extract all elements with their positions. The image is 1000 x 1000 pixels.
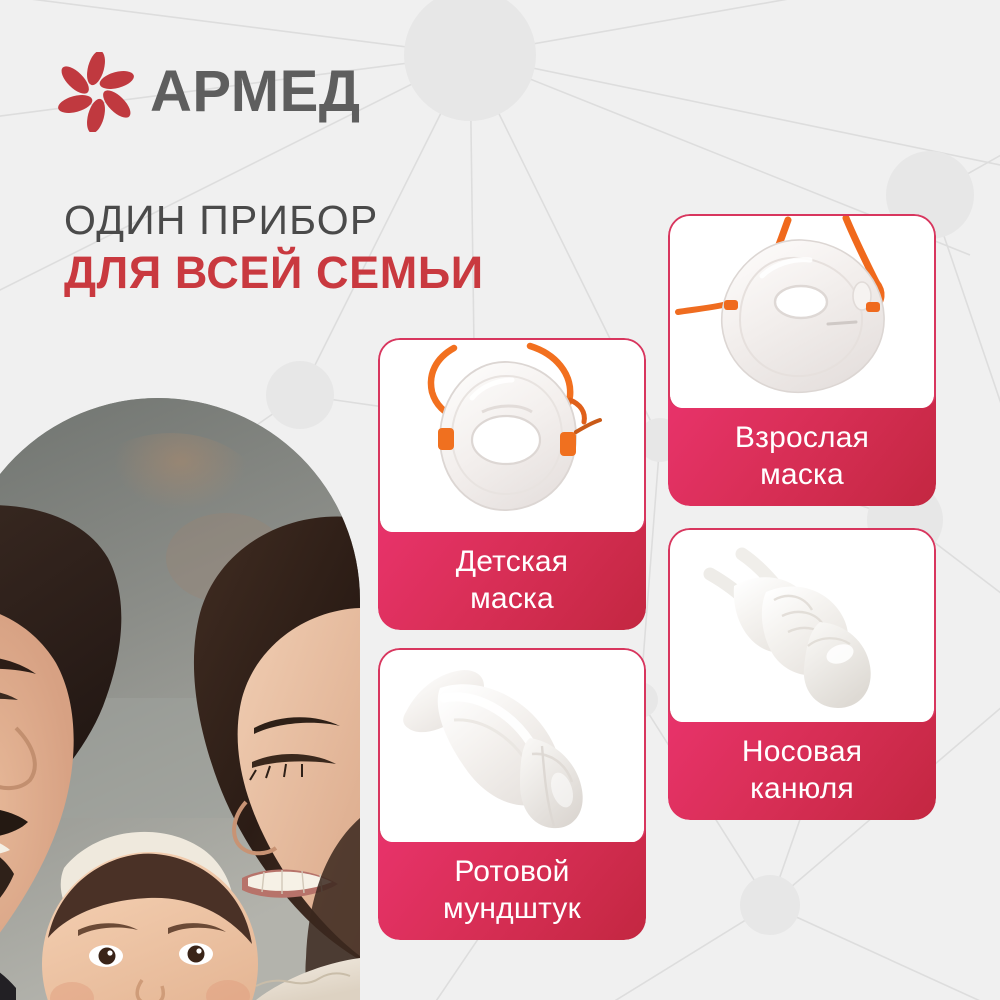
- adult-mask-label-line1: Взрослая: [735, 420, 869, 457]
- nasal-cannula-label-line1: Носовая: [742, 734, 862, 771]
- brand-logo[interactable]: АРМЕД: [56, 52, 361, 132]
- adult-mask-image: [668, 214, 936, 408]
- promo-poster: Взрослая маска: [0, 0, 1000, 1000]
- child-mask-image: [378, 338, 646, 532]
- mouthpiece-label-line1: Ротовой: [454, 854, 569, 891]
- mouthpiece-label: Ротовой мундштук: [378, 828, 646, 940]
- product-card-adult-mask[interactable]: Взрослая маска: [668, 214, 936, 506]
- product-card-nasal-cannula[interactable]: Носовая канюля: [668, 528, 936, 820]
- child-mask-label-line1: Детская: [456, 544, 569, 581]
- nasal-cannula-image: [668, 528, 936, 722]
- nasal-cannula-label: Носовая канюля: [668, 708, 936, 820]
- child-mask-label: Детская маска: [378, 518, 646, 630]
- mouthpiece-label-line2: мундштук: [443, 891, 581, 928]
- headline: ОДИН ПРИБОР ДЛЯ ВСЕЙ СЕМЬИ: [64, 196, 484, 299]
- adult-mask-label-line2: маска: [760, 457, 844, 494]
- adult-mask-label: Взрослая маска: [668, 394, 936, 506]
- mouthpiece-image: [378, 648, 646, 842]
- headline-line-2: ДЛЯ ВСЕЙ СЕМЬИ: [64, 246, 484, 299]
- headline-line-1: ОДИН ПРИБОР: [64, 196, 484, 244]
- child-mask-label-line2: маска: [470, 581, 554, 618]
- family-hero-photo: [0, 398, 360, 1000]
- product-card-mouthpiece[interactable]: Ротовой мундштук: [378, 648, 646, 940]
- brand-wordmark: АРМЕД: [150, 63, 361, 121]
- product-card-child-mask[interactable]: Детская маска: [378, 338, 646, 630]
- nasal-cannula-label-line2: канюля: [750, 771, 854, 808]
- six-petal-flower-icon: [56, 52, 136, 132]
